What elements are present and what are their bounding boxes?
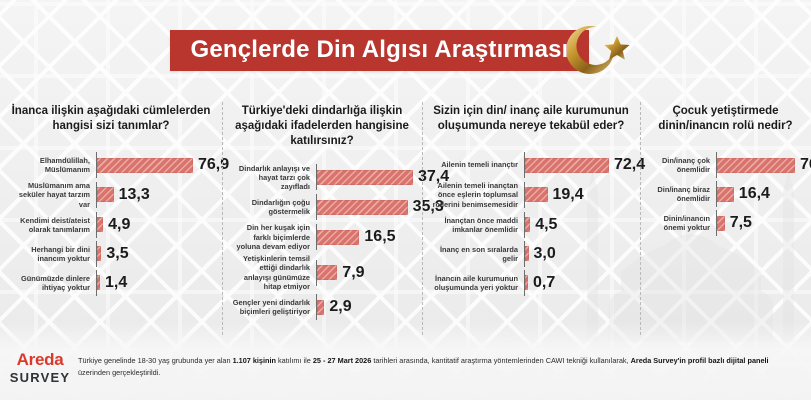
chart-panel-2: Türkiye'deki dindarlığa ilişkin aşağıdak…: [222, 100, 422, 315]
bar-row: Ailenin temeli inançtan önce eşlerin top…: [432, 181, 630, 209]
bar-label: Din/inanç biraz önemlidir: [650, 185, 716, 204]
bar: [97, 246, 101, 261]
bar-value: 3,0: [534, 246, 556, 262]
bar-row: Kendimi deist/ateist olarak tanımlarım4,…: [10, 212, 212, 238]
bar-chart: Dindarlık anlayışı ve hayat tarzı çok za…: [232, 164, 412, 321]
bar: [317, 230, 359, 245]
bar-row: Günümüzde dinlere ihtiyaç yoktur1,4: [10, 270, 212, 296]
bar-chart: Ailenin temeli inançtır72,4Ailenin temel…: [432, 152, 630, 296]
bar-label: Din/inanç çok önemlidir: [650, 156, 716, 175]
bar: [317, 300, 324, 315]
bar-row: İnançtan önce maddi imkanlar önemlidir4,…: [432, 212, 630, 238]
bar-label: Müslümanım ama seküler hayat tarzım var: [10, 181, 96, 209]
bar: [717, 158, 795, 173]
bar-track: 4,9: [96, 212, 212, 238]
bar-label: Herhangi bir dini inancım yoktur: [10, 245, 96, 264]
bar-label: Ailenin temeli inançtan önce eşlerin top…: [432, 181, 524, 209]
bar-track: 3,0: [524, 241, 630, 267]
bar-track: 16,5: [316, 224, 412, 250]
bar: [317, 170, 413, 185]
bar-row: İnanç en son sıralarda gelir3,0: [432, 241, 630, 267]
bar-value: 2,9: [329, 299, 351, 315]
bar-label: Ailenin temeli inançtır: [432, 160, 524, 169]
bar-value: 3,5: [106, 246, 128, 262]
bar-track: 72,4: [524, 152, 645, 178]
areda-survey-logo: Areda SURVEY: [8, 351, 72, 384]
chart-panel-1: İnanca ilişkin aşağıdaki cümlelerden han…: [0, 100, 222, 315]
bar-track: 16,4: [716, 181, 801, 207]
bar: [97, 158, 193, 173]
bar-label: İnancın aile kurumunun oluşumunda yeri y…: [432, 274, 524, 293]
note-fragment: tarihleri arasında, kantitatif araştırma…: [371, 356, 630, 365]
bar-row: Dindarlığın çoğu göstermelik35,3: [232, 194, 412, 220]
bar-row: Gençler yeni dindarlık biçimleri gelişti…: [232, 294, 412, 320]
bar: [525, 217, 530, 232]
note-fragment: 1.107 kişinin: [233, 356, 276, 365]
bar-label: Günümüzde dinlere ihtiyaç yoktur: [10, 274, 96, 293]
bar-row: Din her kuşak için farklı biçimlerde yol…: [232, 223, 412, 251]
bar-track: 7,5: [716, 210, 801, 236]
bar-label: Din her kuşak için farklı biçimlerde yol…: [232, 223, 316, 251]
crescent-star-icon: [567, 13, 641, 87]
bar-value: 0,7: [533, 275, 555, 291]
bar-track: 3,5: [96, 241, 212, 267]
bar-value: 16,4: [739, 186, 770, 202]
bar: [525, 187, 548, 202]
bar-label: Dindarlığın çoğu göstermelik: [232, 198, 316, 217]
bar-track: 0,7: [524, 270, 630, 296]
bar-row: Müslümanım ama seküler hayat tarzım var1…: [10, 181, 212, 209]
methodology-note: Türkiye genelinde 18-30 yaş grubunda yer…: [78, 355, 797, 378]
bar-value: 7,5: [730, 215, 752, 231]
bar: [97, 187, 114, 202]
bar-value: 76,1: [800, 157, 811, 173]
logo-wordmark: Areda: [8, 351, 72, 368]
logo-subtitle: SURVEY: [8, 371, 72, 384]
bar: [525, 158, 609, 173]
note-fragment: Türkiye genelinde 18-30 yaş grubunda yer…: [78, 356, 233, 365]
bar-chart: Elhamdülillah, Müslümanım76,9Müslümanım …: [10, 152, 212, 296]
panel-question: İnanca ilişkin aşağıdaki cümlelerden han…: [10, 104, 212, 138]
header: Gençlerde Din Algısı Araştırması: [0, 22, 811, 78]
bar-label: Dindarlık anlayışı ve hayat tarzı çok za…: [232, 164, 316, 192]
bar: [97, 275, 100, 290]
bar-label: Kendimi deist/ateist olarak tanımlarım: [10, 216, 96, 235]
bar-label: İnanç en son sıralarda gelir: [432, 245, 524, 264]
bar: [317, 265, 337, 280]
bar: [717, 216, 725, 231]
bar-label: İnançtan önce maddi imkanlar önemlidir: [432, 216, 524, 235]
bar-track: 19,4: [524, 182, 630, 208]
footer: Areda SURVEY Türkiye genelinde 18-30 yaş…: [0, 328, 811, 400]
bar-row: Dinin/inancın önemi yoktur7,5: [650, 210, 801, 236]
bar: [317, 200, 408, 215]
bar-row: Din/inanç çok önemlidir76,1: [650, 152, 801, 178]
bar-track: 1,4: [96, 270, 212, 296]
panel-question: Sizin için din/ inanç aile kurumunun olu…: [432, 104, 630, 138]
bar-track: 7,9: [316, 260, 412, 286]
bar-value: 4,5: [535, 217, 557, 233]
panel-question: Çocuk yetiştirmede dinin/inancın rolü ne…: [650, 104, 801, 138]
note-fragment: 25 - 27 Mart 2026: [313, 356, 371, 365]
bar-value: 16,5: [364, 229, 395, 245]
bar-row: Din/inanç biraz önemlidir16,4: [650, 181, 801, 207]
bar-value: 19,4: [553, 187, 584, 203]
bar-row: Yetişkinlerin temsil ettiği dindarlık an…: [232, 254, 412, 291]
page-title: Gençlerde Din Algısı Araştırması: [170, 30, 588, 71]
chart-panel-3: Sizin için din/ inanç aile kurumunun olu…: [422, 100, 640, 315]
bar-track: 76,1: [716, 152, 811, 178]
bar-track: 2,9: [316, 294, 412, 320]
bar-value: 13,3: [119, 187, 150, 203]
bar-row: İnancın aile kurumunun oluşumunda yeri y…: [432, 270, 630, 296]
bar-label: Dinin/inancın önemi yoktur: [650, 214, 716, 233]
bar-label: Elhamdülillah, Müslümanım: [10, 156, 96, 175]
bar: [717, 187, 734, 202]
bar-label: Gençler yeni dindarlık biçimleri gelişti…: [232, 298, 316, 317]
chart-panel-4: Çocuk yetiştirmede dinin/inancın rolü ne…: [640, 100, 811, 315]
bar-track: 13,3: [96, 182, 212, 208]
panel-question: Türkiye'deki dindarlığa ilişkin aşağıdak…: [232, 104, 412, 150]
bar-row: Dindarlık anlayışı ve hayat tarzı çok za…: [232, 164, 412, 192]
bar: [525, 246, 529, 261]
bar: [525, 275, 528, 290]
bar-value: 4,9: [108, 217, 130, 233]
bar-row: Ailenin temeli inançtır72,4: [432, 152, 630, 178]
bar: [97, 217, 103, 232]
bar-row: Herhangi bir dini inancım yoktur3,5: [10, 241, 212, 267]
note-fragment: katılımı ile: [276, 356, 313, 365]
bar-label: Yetişkinlerin temsil ettiği dindarlık an…: [232, 254, 316, 291]
bar-value: 1,4: [105, 275, 127, 291]
note-fragment: Areda Survey'in profil bazlı dijital pan…: [631, 356, 769, 365]
bar-chart: Din/inanç çok önemlidir76,1Din/inanç bir…: [650, 152, 801, 236]
bar-value: 7,9: [342, 265, 364, 281]
bar-row: Elhamdülillah, Müslümanım76,9: [10, 152, 212, 178]
bar-track: 4,5: [524, 212, 630, 238]
chart-columns: İnanca ilişkin aşağıdaki cümlelerden han…: [0, 100, 811, 315]
bar-track: 76,9: [96, 152, 229, 178]
note-fragment: üzerinden gerçekleştirildi.: [78, 368, 160, 377]
